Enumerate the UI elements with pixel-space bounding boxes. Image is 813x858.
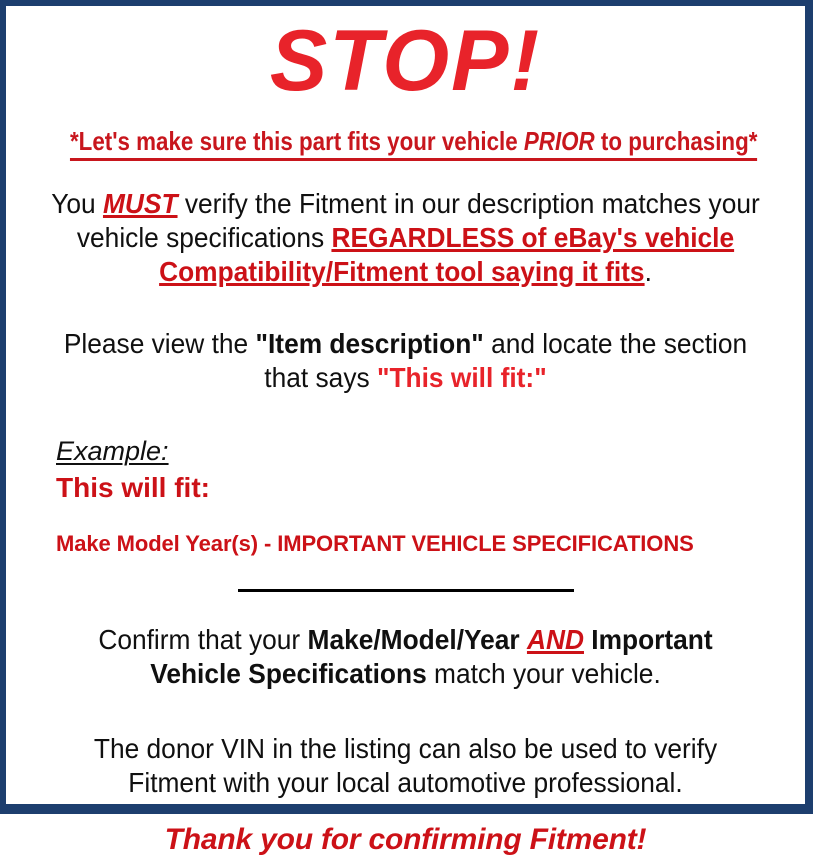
paragraph-confirm-match: Confirm that your Make/Model/Year AND Im… bbox=[37, 623, 773, 691]
subtitle-emphasis-prior: PRIOR bbox=[524, 126, 595, 156]
p2-quoted-this-will-fit: "This will fit:" bbox=[377, 362, 547, 393]
example-block: Example: This will fit: Make Model Year(… bbox=[14, 435, 797, 557]
paragraph-item-description: Please view the "Item description" and l… bbox=[37, 327, 773, 395]
notice-card-inner: STOP! *Let's make sure this part fits yo… bbox=[6, 18, 805, 816]
p2-quoted-item-description: "Item description" bbox=[256, 328, 484, 359]
p1-segment-period: . bbox=[645, 256, 652, 287]
p3-bold-make-model-year: Make/Model/Year bbox=[308, 624, 520, 655]
example-label: Example: bbox=[56, 435, 169, 467]
p3-space-1 bbox=[520, 624, 527, 655]
subtitle-banner: *Let's make sure this part fits your veh… bbox=[14, 126, 797, 161]
paragraph-verify-fitment: You MUST verify the Fitment in our descr… bbox=[37, 187, 773, 289]
p3-segment-match: match your vehicle. bbox=[427, 658, 661, 689]
divider-wrap bbox=[14, 581, 797, 599]
subtitle-banner-inner: *Let's make sure this part fits your veh… bbox=[70, 126, 758, 161]
example-spec-line: Make Model Year(s) - IMPORTANT VEHICLE S… bbox=[56, 531, 797, 557]
p3-segment-confirm: Confirm that your bbox=[98, 624, 307, 655]
example-this-will-fit-heading: This will fit: bbox=[56, 470, 797, 505]
p3-emphasis-and: AND bbox=[527, 624, 584, 655]
paragraph-donor-vin: The donor VIN in the listing can also be… bbox=[37, 732, 773, 800]
stop-headline: STOP! bbox=[14, 18, 797, 104]
subtitle-text-part1: *Let's make sure this part fits your veh… bbox=[70, 126, 524, 156]
subtitle-text-part2: to purchasing* bbox=[595, 126, 758, 156]
p1-emphasis-must: MUST bbox=[103, 188, 178, 219]
p2-segment-please-view: Please view the bbox=[64, 328, 256, 359]
fitment-notice-card: STOP! *Let's make sure this part fits yo… bbox=[0, 0, 813, 814]
example-label-row: Example: bbox=[56, 435, 797, 467]
horizontal-rule-icon bbox=[238, 589, 574, 592]
closing-thank-you: Thank you for confirming Fitment! bbox=[14, 822, 797, 858]
p1-segment-you: You bbox=[51, 188, 103, 219]
